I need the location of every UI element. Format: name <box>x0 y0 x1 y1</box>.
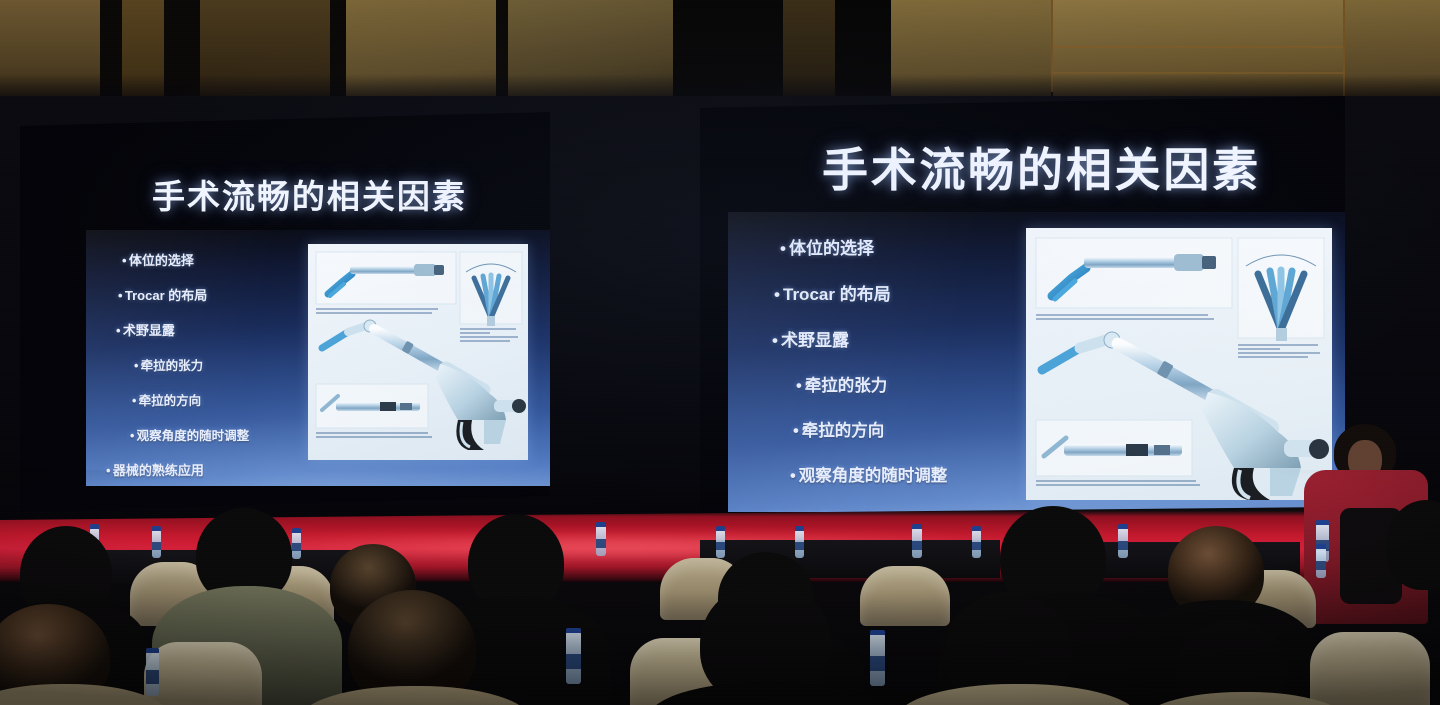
bottle <box>1118 528 1128 558</box>
bullet-marker: • <box>793 422 799 441</box>
bullet-marker: • <box>132 394 136 408</box>
bottle <box>912 528 922 558</box>
figure-caption-bottom <box>316 432 434 440</box>
list-item: •Trocar 的布局 <box>118 285 249 304</box>
head <box>1386 500 1440 590</box>
chair <box>860 566 950 626</box>
bullet-marker: • <box>118 288 123 303</box>
bottle <box>146 652 159 696</box>
audience-area <box>0 470 1440 705</box>
list-item: •术野显露 <box>772 326 947 351</box>
bottle <box>152 530 161 558</box>
slide-body-left: •体位的选择 •Trocar 的布局 •术野显露 •牵拉的张力 •牵拉的方向 <box>86 230 550 486</box>
list-item: •体位的选择 <box>122 250 249 269</box>
figure-caption-right <box>1238 344 1322 360</box>
bottle <box>716 530 725 558</box>
bullet-marker: • <box>796 377 802 396</box>
slide-title-left: 手术流畅的相关因素 <box>152 170 467 218</box>
bottle <box>566 632 581 684</box>
surgical-stapler-diagram <box>1026 228 1332 500</box>
list-item: •术野显露 <box>116 320 249 339</box>
bullet-marker: • <box>780 239 786 259</box>
list-item: •体位的选择 <box>780 234 947 259</box>
list-item: •牵拉的方向 <box>793 417 947 441</box>
bullet-marker: • <box>774 285 780 305</box>
bottle <box>596 526 606 556</box>
chair <box>144 642 262 705</box>
list-item: •牵拉的方向 <box>132 390 249 409</box>
slide-title-right: 手术流畅的相关因素 <box>822 134 1261 200</box>
bottle <box>795 530 804 558</box>
bottle <box>292 532 301 559</box>
right-screen[interactable]: 手术流畅的相关因素 •体位的选择 •Trocar 的布局 •术野显露 •牵拉的张… <box>700 96 1345 521</box>
list-item: •牵拉的张力 <box>796 372 947 396</box>
slide-bullets-left: •体位的选择 •Trocar 的布局 •术野显露 •牵拉的张力 •牵拉的方向 <box>108 250 249 479</box>
stapler-illustration <box>1026 228 1332 500</box>
bullet-marker: • <box>134 359 138 373</box>
bullet-marker: • <box>122 253 127 268</box>
surgical-stapler-diagram <box>308 244 528 460</box>
bullet-marker: • <box>116 323 121 338</box>
slide-body-right: •体位的选择 •Trocar 的布局 •术野显露 •牵拉的张力 •牵拉的方向 <box>728 212 1345 512</box>
bottle <box>972 530 981 558</box>
stapler-illustration <box>308 244 528 460</box>
figure-caption-right <box>460 328 520 344</box>
figure-caption-top <box>316 308 444 316</box>
bullet-marker: • <box>130 429 134 443</box>
conference-hall-photo: 手术流畅的相关因素 •体位的选择 •Trocar 的布局 •术野显露 •牵拉的张… <box>0 0 1440 705</box>
figure-caption-top <box>1036 314 1216 322</box>
list-item: •牵拉的张力 <box>134 355 249 374</box>
bottle <box>1316 548 1326 578</box>
left-screen[interactable]: 手术流畅的相关因素 •体位的选择 •Trocar 的布局 •术野显露 •牵拉的张… <box>20 112 550 512</box>
list-item: •观察角度的随时调整 <box>130 425 249 444</box>
bullet-marker: • <box>772 331 778 351</box>
chair <box>1310 632 1430 705</box>
bottle <box>870 634 885 686</box>
list-item: •Trocar 的布局 <box>774 280 947 305</box>
